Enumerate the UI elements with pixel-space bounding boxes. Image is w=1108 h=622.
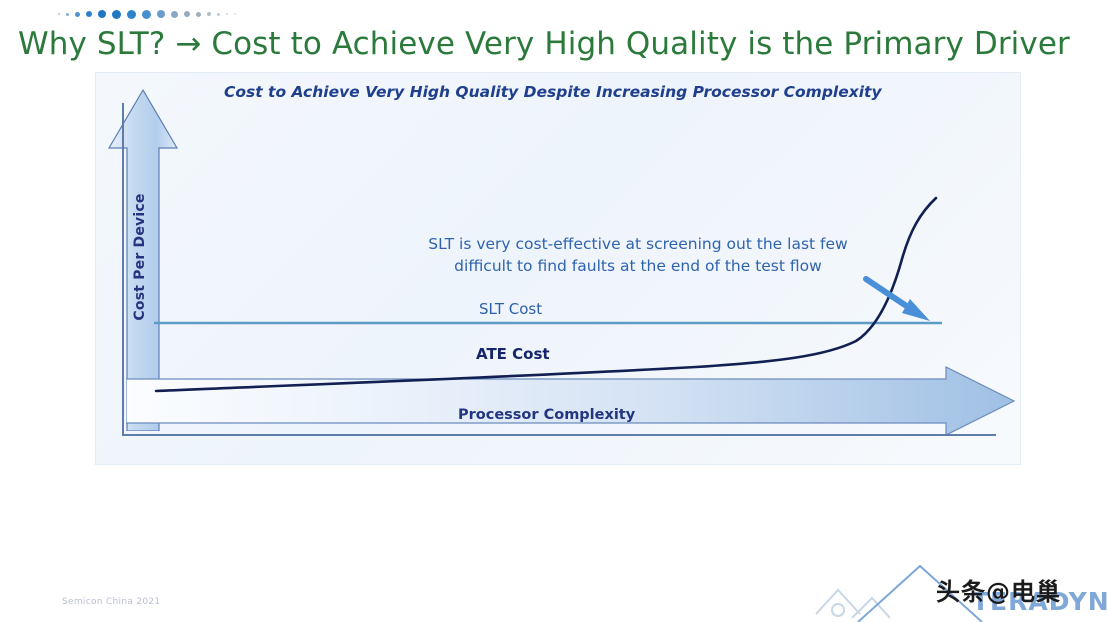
page-title: Why SLT? → Cost to Achieve Very High Qua…: [18, 26, 1070, 62]
slt-callout-annotation: SLT is very cost-effective at screening …: [368, 233, 908, 278]
y-axis-label: Cost Per Device: [132, 192, 148, 322]
decorative-dot: [127, 10, 136, 19]
decorative-dot: [217, 13, 220, 16]
annotation-line-2: difficult to find faults at the end of t…: [368, 255, 908, 277]
footer-note: Semicon China 2021: [62, 597, 160, 607]
decorative-dot: [86, 11, 92, 17]
chart-panel: Cost to Achieve Very High Quality Despit…: [95, 72, 1021, 465]
ate-cost-label: ATE Cost: [476, 345, 550, 363]
chart-title: Cost to Achieve Very High Quality Despit…: [224, 83, 882, 101]
x-axis-arrow: [126, 365, 1016, 437]
decorative-dot: [98, 10, 106, 18]
annotation-line-1: SLT is very cost-effective at screening …: [368, 233, 908, 255]
decorative-dot: [196, 12, 201, 17]
decorative-dot-strip: [58, 5, 236, 23]
decorative-dot: [58, 13, 60, 15]
decorative-dot: [234, 13, 236, 15]
decorative-dot: [142, 10, 151, 19]
decorative-dot: [226, 13, 228, 15]
decorative-dot: [184, 11, 190, 17]
decorative-dot: [112, 10, 121, 19]
decorative-dot: [171, 11, 178, 18]
decorative-dot: [66, 13, 69, 16]
decorative-dot: [207, 12, 211, 16]
callout-arrow: [866, 279, 930, 321]
decorative-dot: [75, 12, 80, 17]
slt-cost-label: SLT Cost: [479, 300, 542, 318]
decorative-dot: [157, 10, 165, 18]
x-axis-label: Processor Complexity: [458, 407, 635, 423]
watermark-text: 头条@电巢: [936, 572, 1061, 607]
